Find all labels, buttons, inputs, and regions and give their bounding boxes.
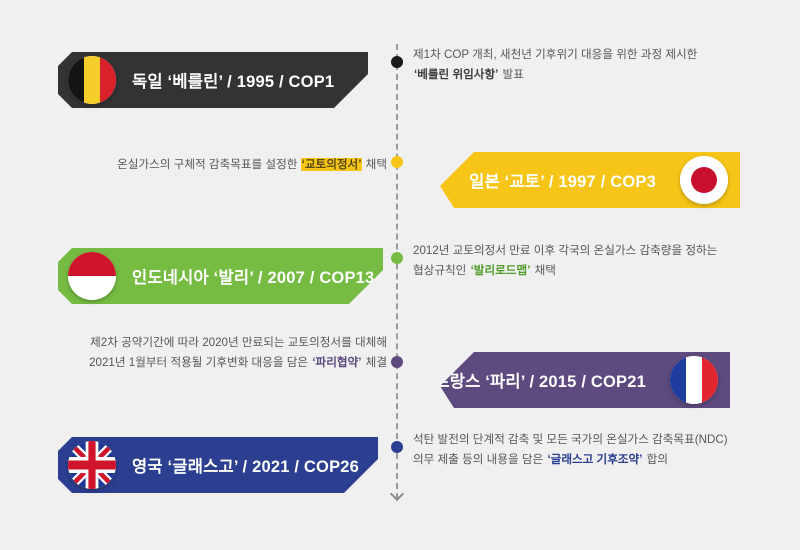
description-keyword: ‘파리협약’ <box>311 356 362 369</box>
description-keyword: ‘교토의정서’ <box>301 158 363 171</box>
timeline-dot-cop13-bali <box>391 252 403 264</box>
event-description-cop3-kyoto: 온실가스의 구체적 감축목표를 설정한 ‘교토의정서’ 채택 <box>117 155 387 175</box>
event-description-cop13-bali: 2012년 교토의정서 만료 이후 각국의 온실가스 감축량을 정하는협상규칙인… <box>413 241 717 281</box>
description-text: 협상규칙인 <box>413 264 470 277</box>
event-banner-cop3-kyoto[interactable]: 일본 ‘교토’ / 1997 / COP3 <box>440 152 740 208</box>
description-text: 채택 <box>362 158 387 171</box>
banner-label: 영국 ‘글래스고’ / 2021 / COP26 <box>132 453 359 477</box>
timeline-axis <box>396 44 398 499</box>
banner-label: 독일 ‘베를린’ / 1995 / COP1 <box>132 68 334 92</box>
description-keyword: ‘발리로드맵’ <box>470 264 532 277</box>
event-banner-cop1-berlin[interactable]: 독일 ‘베를린’ / 1995 / COP1 <box>58 52 368 108</box>
timeline-dot-cop21-paris <box>391 356 403 368</box>
event-banner-cop21-paris[interactable]: 프랑스 ‘파리’ / 2015 / COP21 <box>440 352 730 408</box>
description-line-1: 석탄 발전의 단계적 감축 및 모든 국가의 온실가스 감축목표(NDC) <box>413 430 728 450</box>
event-description-cop1-berlin: 제1차 COP 개최, 새천년 기후위기 대응을 위한 과정 제시한‘베를린 위… <box>413 45 697 85</box>
description-line-2: 온실가스의 구체적 감축목표를 설정한 ‘교토의정서’ 채택 <box>117 155 387 175</box>
banner-label: 인도네시아 ‘발리’ / 2007 / COP13 <box>132 264 374 288</box>
description-line-1: 제2차 공약기간에 따라 2020년 만료되는 교토의정서를 대체해 <box>89 333 387 353</box>
description-line-2: ‘베를린 위임사항’ 발표 <box>413 65 697 85</box>
description-line-2: 협상규칙인 ‘발리로드맵’ 채택 <box>413 261 717 281</box>
timeline-dot-cop26-glasgow <box>391 441 403 453</box>
description-line-1: 2012년 교토의정서 만료 이후 각국의 온실가스 감축량을 정하는 <box>413 241 717 261</box>
description-line-2: 의무 제출 등의 내용을 담은 ‘글래스고 기후조약’ 합의 <box>413 450 728 470</box>
description-keyword: ‘베를린 위임사항’ <box>413 68 499 81</box>
flag-germany-icon <box>68 56 116 104</box>
flag-indonesia-icon <box>68 252 116 300</box>
event-description-cop26-glasgow: 석탄 발전의 단계적 감축 및 모든 국가의 온실가스 감축목표(NDC)의무 … <box>413 430 728 470</box>
description-text: 체결 <box>362 356 387 369</box>
description-text: 합의 <box>643 453 668 466</box>
description-line-1: 제1차 COP 개최, 새천년 기후위기 대응을 위한 과정 제시한 <box>413 45 697 65</box>
description-text: 2021년 1월부터 적용될 기후변화 대응을 담은 <box>89 356 311 369</box>
event-banner-cop13-bali[interactable]: 인도네시아 ‘발리’ / 2007 / COP13 <box>58 248 383 304</box>
banner-label: 프랑스 ‘파리’ / 2015 / COP21 <box>434 368 646 392</box>
timeline-dot-cop1-berlin <box>391 56 403 68</box>
description-keyword: ‘글래스고 기후조약’ <box>546 453 643 466</box>
flag-japan-icon <box>680 156 728 204</box>
event-banner-cop26-glasgow[interactable]: 영국 ‘글래스고’ / 2021 / COP26 <box>58 437 378 493</box>
timeline-dashed-line <box>396 44 398 499</box>
banner-label: 일본 ‘교토’ / 1997 / COP3 <box>469 168 656 192</box>
timeline-dot-cop3-kyoto <box>391 156 403 168</box>
description-line-2: 2021년 1월부터 적용될 기후변화 대응을 담은 ‘파리협약’ 체결 <box>89 353 387 373</box>
event-description-cop21-paris: 제2차 공약기간에 따라 2020년 만료되는 교토의정서를 대체해2021년 … <box>89 333 387 373</box>
chevron-down-icon <box>391 489 403 501</box>
description-text: 의무 제출 등의 내용을 담은 <box>413 453 546 466</box>
flag-france-icon <box>670 356 718 404</box>
flag-uk-icon <box>68 441 116 489</box>
description-text: 온실가스의 구체적 감축목표를 설정한 <box>117 158 301 171</box>
description-text: 채택 <box>531 264 556 277</box>
description-text: 발표 <box>499 68 524 81</box>
